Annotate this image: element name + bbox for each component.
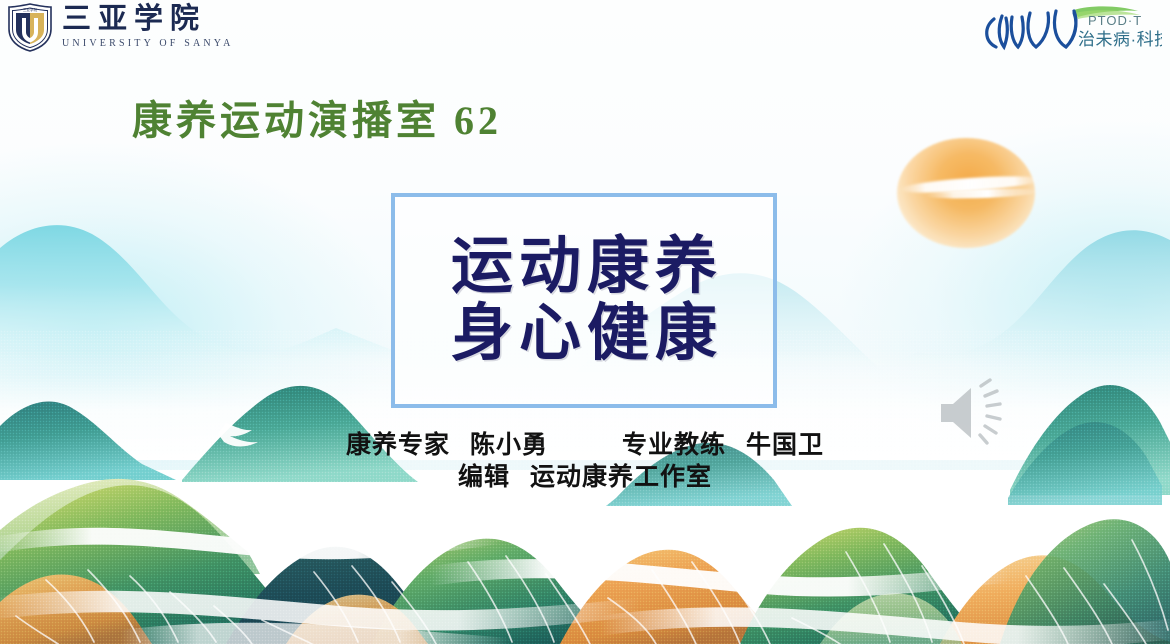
main-title-box: 运动康养 身心健康 <box>391 193 777 408</box>
ptodt-logo: PTOD·T 治未病·科技 <box>978 3 1162 51</box>
credit-role-editor-name: 运动康养工作室 <box>530 463 712 491</box>
credits-row-secondary: 编辑运动康养工作室 <box>0 461 1170 493</box>
university-name-en: UNIVERSITY OF SANYA <box>62 38 234 49</box>
credits-block: 康养专家陈小勇专业教练牛国卫 编辑运动康养工作室 <box>0 429 1170 493</box>
main-title-line-1: 运动康养 <box>445 235 723 299</box>
page-title: 康养运动演播室 62 <box>132 88 502 146</box>
main-title-line-2: 身心健康 <box>445 302 723 366</box>
credit-role-editor-label: 编辑 <box>458 463 510 491</box>
svg-text:治未病·科技: 治未病·科技 <box>1078 30 1162 49</box>
credit-role-expert-label: 康养专家 <box>346 431 450 459</box>
sanya-university-shield-icon: 三亚学院 <box>6 2 54 52</box>
credit-role-coach-name: 牛国卫 <box>746 431 824 459</box>
svg-text:PTOD·T: PTOD·T <box>1088 13 1142 28</box>
credit-role-expert-name: 陈小勇 <box>470 431 548 459</box>
presentation-slide: 三亚学院 三亚学院 UNIVERSITY OF SANYA PTOD·T 治未病… <box>0 0 1170 644</box>
university-name-cn: 三亚学院 <box>62 5 234 34</box>
credits-row-primary: 康养专家陈小勇专业教练牛国卫 <box>0 429 1170 461</box>
credit-role-coach-label: 专业教练 <box>622 431 726 459</box>
svg-text:三亚学院: 三亚学院 <box>23 7 38 12</box>
university-logo: 三亚学院 三亚学院 UNIVERSITY OF SANYA <box>6 2 234 52</box>
